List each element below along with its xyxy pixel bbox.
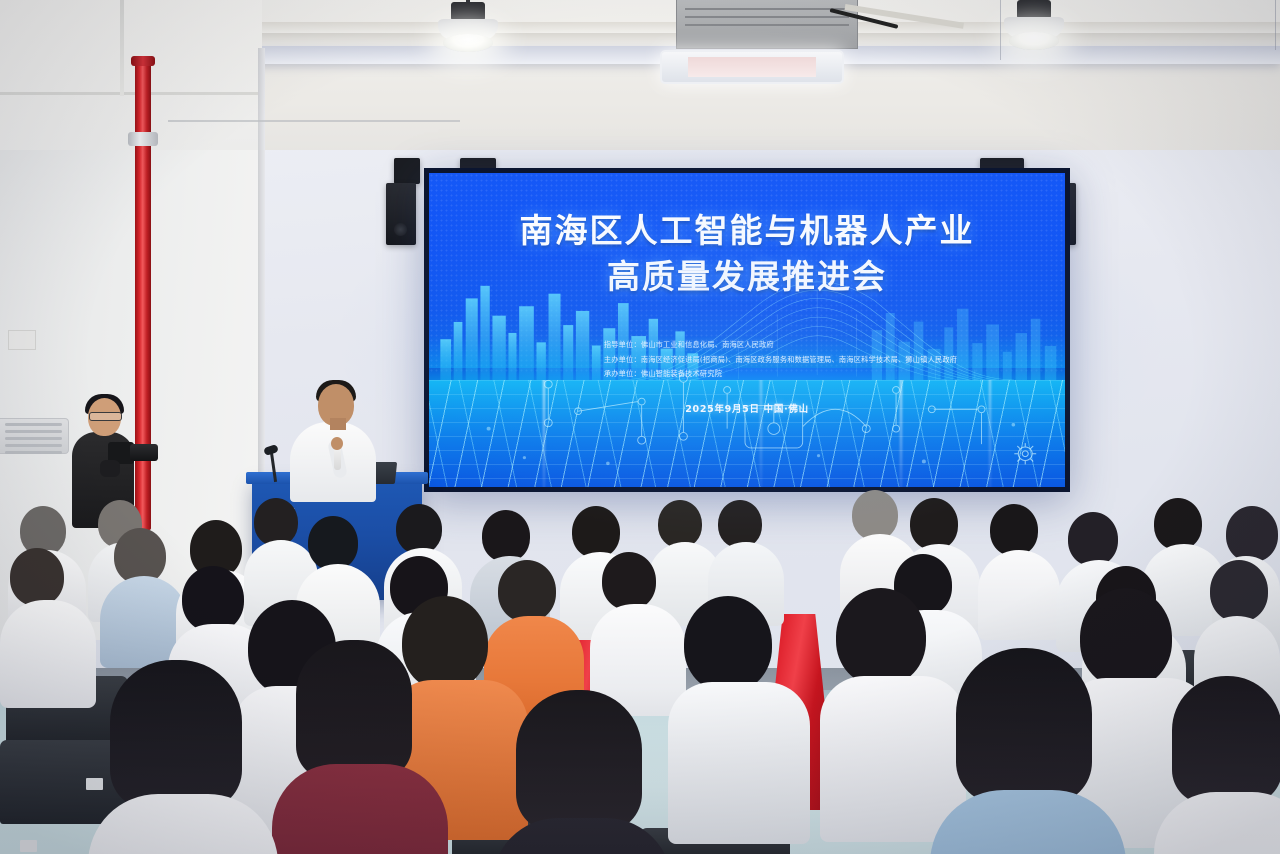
chair-number-tag bbox=[86, 778, 103, 790]
organizer-host: 主办单位：南海区经济促进局(招商局)、南海区政务服务和数据管理局、南海区科学技术… bbox=[604, 353, 1049, 368]
organizer-guidance: 指导单位：佛山市工业和信息化局、南海区人民政府 bbox=[604, 338, 1049, 353]
air-vent bbox=[0, 418, 69, 454]
wall-speaker-upper-left bbox=[394, 158, 420, 184]
ceiling-panel-light bbox=[660, 50, 844, 84]
speaker-neck bbox=[330, 418, 346, 430]
slide-canvas: 南海区人工智能与机器人产业 高质量发展推进会 指导单位：佛山市工业和信息化局、南… bbox=[429, 173, 1065, 487]
wall-plate bbox=[8, 330, 36, 350]
audio-speaker-left bbox=[386, 183, 416, 245]
slide-title-line1: 南海区人工智能与机器人产业 bbox=[520, 211, 975, 250]
slide-date-location: 2025年9月5日 中国·佛山 bbox=[429, 401, 1065, 415]
left-wall-upper bbox=[0, 0, 262, 150]
slide-title: 南海区人工智能与机器人产业 高质量发展推进会 bbox=[429, 208, 1065, 302]
standpipe-collar bbox=[128, 132, 158, 146]
chair-number-tag bbox=[20, 840, 37, 852]
conference-photo: 南海区人工智能与机器人产业 高质量发展推进会 指导单位：佛山市工业和信息化局、南… bbox=[0, 0, 1280, 854]
wall-panel-line bbox=[168, 120, 460, 122]
slide-organizers: 指导单位：佛山市工业和信息化局、南海区人民政府 主办单位：南海区经济促进局(招商… bbox=[604, 338, 1049, 382]
camera-lens-icon bbox=[130, 444, 158, 461]
speaker-hand bbox=[331, 437, 343, 450]
photographer-hand bbox=[100, 460, 120, 477]
wall-seam-vertical bbox=[120, 0, 124, 96]
led-display-screen: 南海区人工智能与机器人产业 高质量发展推进会 指导单位：佛山市工业和信息化局、南… bbox=[424, 168, 1070, 492]
wall-seam-horizontal bbox=[0, 92, 258, 95]
ceiling-wire-2 bbox=[1275, 0, 1276, 50]
photographer-glasses bbox=[89, 412, 122, 421]
organizer-undertaker: 承办单位：佛山智能装备技术研究院 bbox=[604, 367, 1049, 382]
slide-title-line2: 高质量发展推进会 bbox=[429, 254, 1065, 301]
slide-text-layer: 南海区人工智能与机器人产业 高质量发展推进会 指导单位：佛山市工业和信息化局、南… bbox=[429, 173, 1065, 487]
standpipe-cap bbox=[131, 56, 155, 66]
ceiling-wire-1 bbox=[1000, 0, 1001, 60]
